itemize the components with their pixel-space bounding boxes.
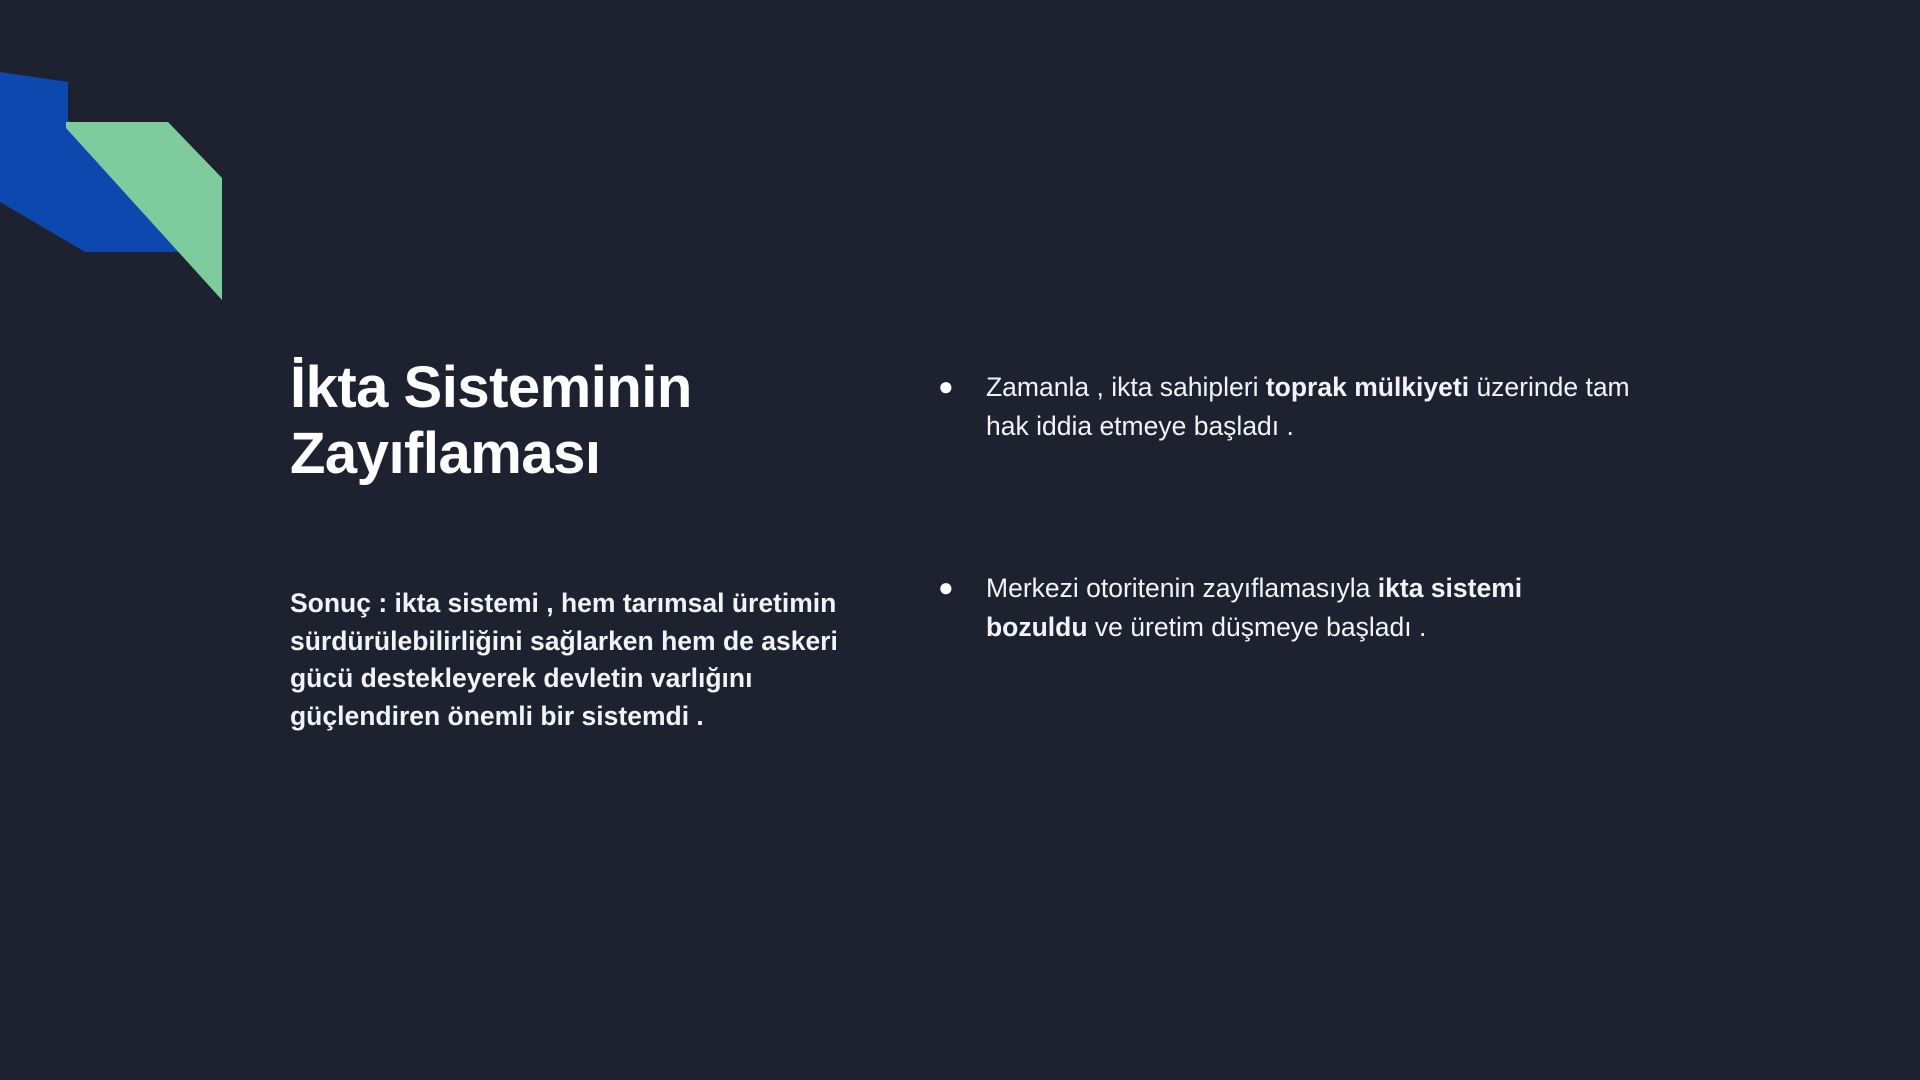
bullet-2-part-1: Merkezi otoritenin zayıflamasıyla <box>986 573 1378 603</box>
bullet-point-icon: ● <box>930 368 986 406</box>
list-item: ● Merkezi otoritenin zayıflamasıyla ikta… <box>930 569 1630 646</box>
bullet-1-bold-1: toprak mülkiyeti <box>1266 372 1469 402</box>
title-line-2: Zayıflaması <box>290 421 600 486</box>
page-title: İkta Sisteminin Zayıflaması <box>290 355 850 487</box>
bullet-point-icon: ● <box>930 569 986 607</box>
bullet-2-part-2: ve üretim düşmeye başladı . <box>1088 612 1427 642</box>
list-item: ● Zamanla , ikta sahipleri toprak mülkiy… <box>930 368 1630 445</box>
conclusion-paragraph: Sonuç : ikta sistemi , hem tarımsal üret… <box>290 585 890 736</box>
title-line-1: İkta Sisteminin <box>290 355 692 420</box>
list-item-text: Merkezi otoritenin zayıflamasıyla ikta s… <box>986 569 1630 646</box>
left-column: İkta Sisteminin Zayıflaması Sonuç : ikta… <box>0 0 930 736</box>
bullet-1-part-1: Zamanla , ikta sahipleri <box>986 372 1266 402</box>
list-item-text: Zamanla , ikta sahipleri toprak mülkiyet… <box>986 368 1630 445</box>
slide-content: İkta Sisteminin Zayıflaması Sonuç : ikta… <box>0 0 1920 1080</box>
right-column: ● Zamanla , ikta sahipleri toprak mülkiy… <box>930 0 1920 647</box>
